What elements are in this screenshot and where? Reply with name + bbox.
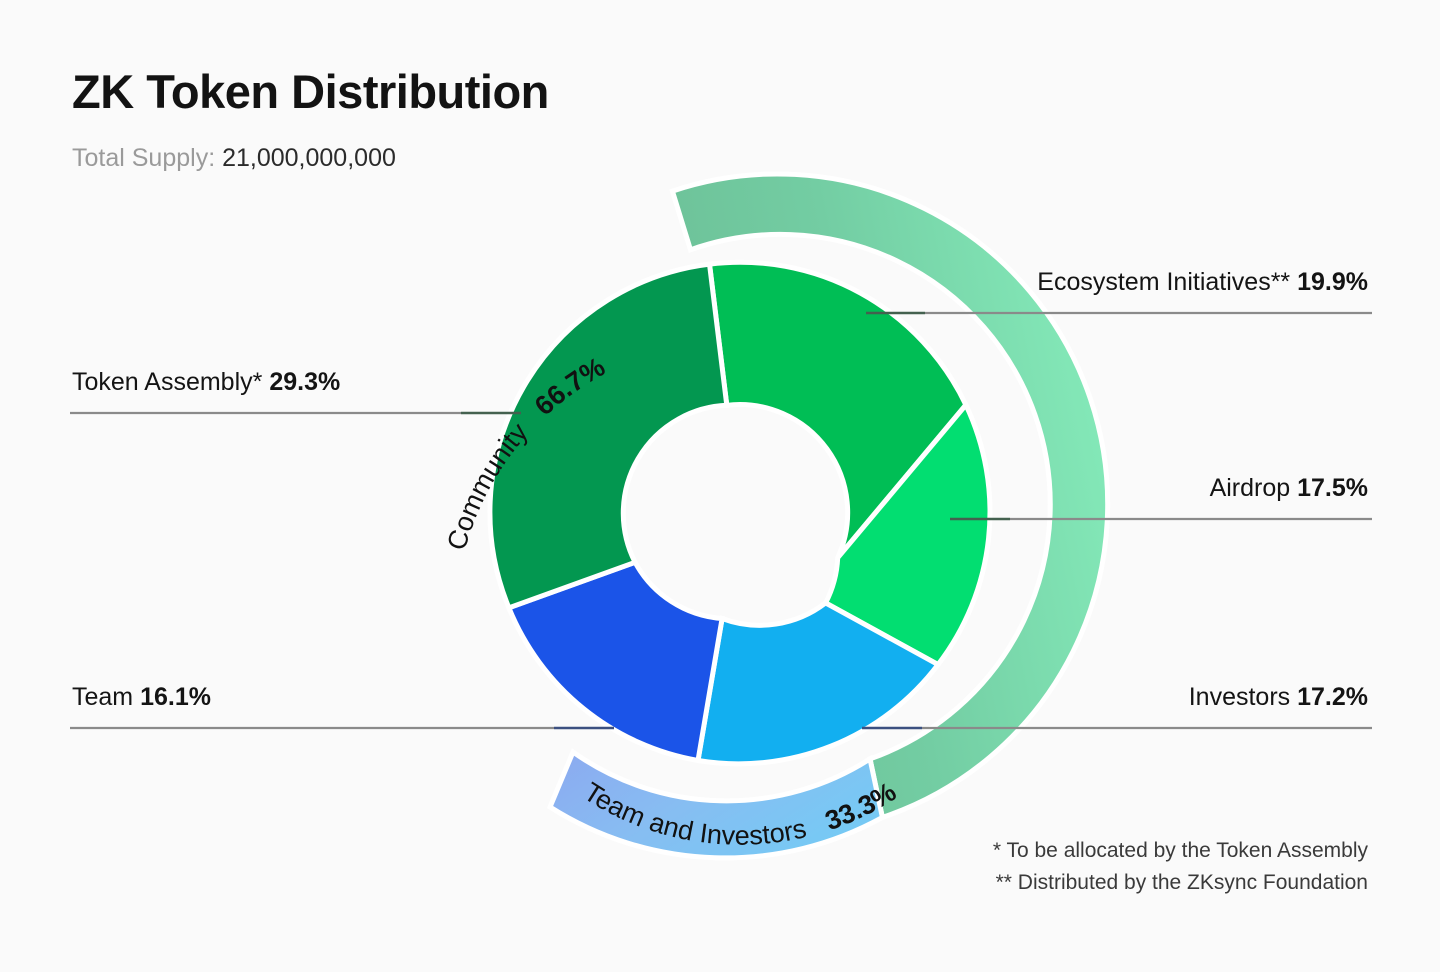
investors-label-text: Investors — [1189, 683, 1290, 711]
airdrop-label-text: Airdrop — [1210, 474, 1291, 502]
label-airdrop: Airdrop 17.5% — [1210, 476, 1368, 501]
ecosystem-label-pct: 19.9% — [1297, 268, 1368, 296]
footnotes: * To be allocated by the Token Assembly … — [993, 835, 1368, 900]
footnote-single-star: * To be allocated by the Token Assembly — [993, 835, 1368, 868]
airdrop-label-pct: 17.5% — [1297, 474, 1368, 502]
label-investors: Investors 17.2% — [1189, 685, 1368, 710]
team-label-pct: 16.1% — [140, 683, 211, 711]
label-token-assembly: Token Assembly* 29.3% — [72, 370, 340, 395]
label-ecosystem-initiatives: Ecosystem Initiatives** 19.9% — [1037, 270, 1368, 295]
token-assembly-label-pct: 29.3% — [269, 368, 340, 396]
label-team: Team 16.1% — [72, 685, 211, 710]
ecosystem-label-text: Ecosystem Initiatives** — [1037, 268, 1290, 296]
token-assembly-label-text: Token Assembly* — [72, 368, 262, 396]
investors-label-pct: 17.2% — [1297, 683, 1368, 711]
team-label-text: Team — [72, 683, 133, 711]
inner-donut — [490, 262, 990, 764]
footnote-double-star: ** Distributed by the ZKsync Foundation — [993, 867, 1368, 900]
